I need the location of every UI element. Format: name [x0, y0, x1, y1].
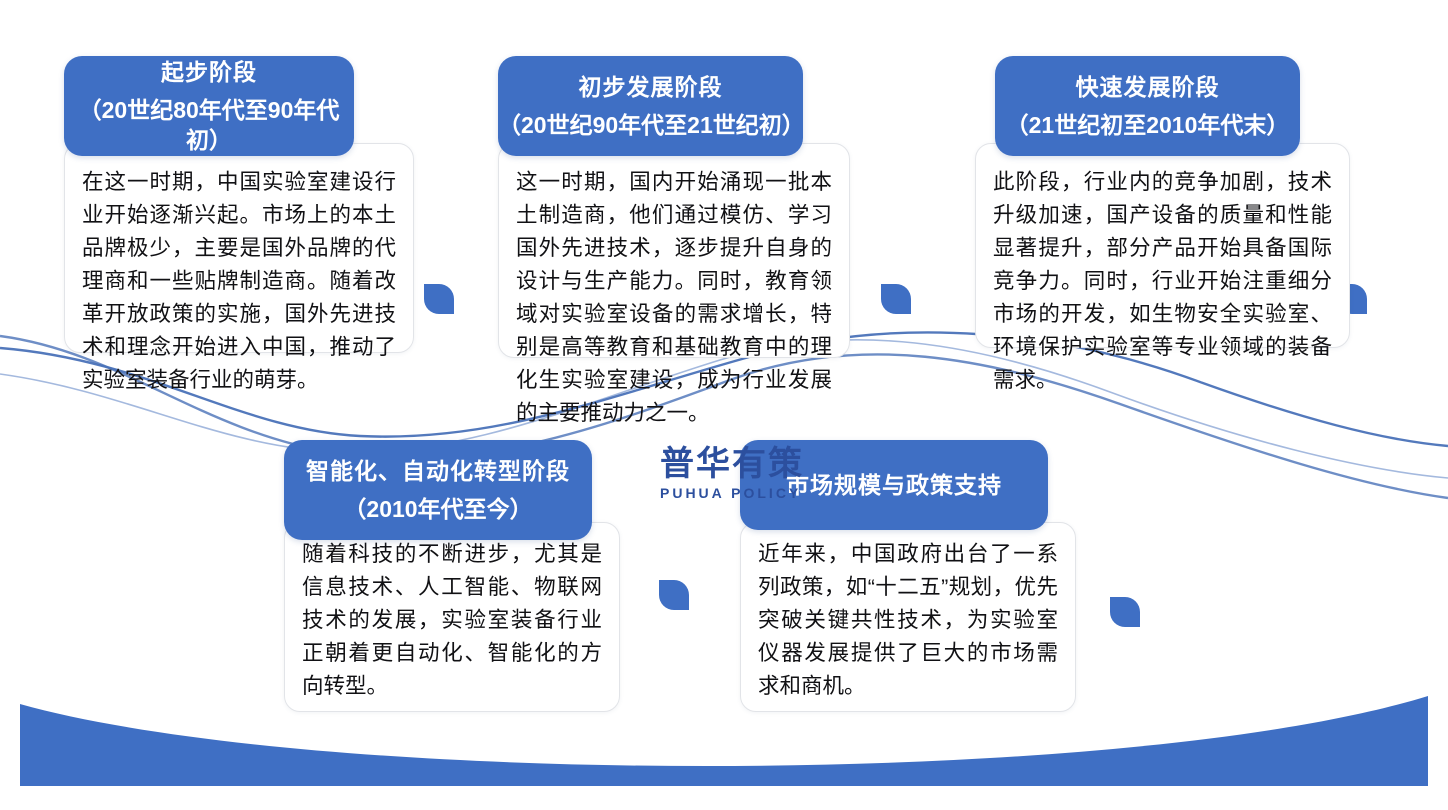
- leaf-decoration-4: [659, 580, 689, 610]
- card-body-text: 此阶段，行业内的竞争加剧，技术升级加速，国产设备的质量和性能显著提升，部分产品开…: [975, 166, 1350, 397]
- stage-card-zhinenghua-zidonghua-zhuanxing-jieduan[interactable]: 随着科技的不断进步，尤其是信息技术、人工智能、物联网技术的发展，实验室装备行业正…: [284, 440, 620, 715]
- card-body-text: 随着科技的不断进步，尤其是信息技术、人工智能、物联网技术的发展，实验室装备行业正…: [284, 538, 620, 703]
- card-body-text: 近年来，中国政府出台了一系列政策，如“十二五”规划，优先突破关键共性技术，为实验…: [740, 538, 1076, 703]
- leaf-decoration-5: [1110, 597, 1140, 627]
- card-subtitle: （21世纪初至2010年代末）: [1006, 110, 1290, 140]
- card-subtitle: （20世纪80年代至90年代初）: [64, 95, 354, 155]
- bottom-decorative-band: [0, 680, 1448, 810]
- card-header[interactable]: 市场规模与政策支持: [740, 440, 1048, 530]
- card-header[interactable]: 起步阶段 （20世纪80年代至90年代初）: [64, 56, 354, 156]
- card-header[interactable]: 初步发展阶段 （20世纪90年代至21世纪初）: [498, 56, 803, 156]
- card-header[interactable]: 智能化、自动化转型阶段 （2010年代至今）: [284, 440, 592, 540]
- stage-card-shichang-guimo-yu-zhengce-zhichi[interactable]: 近年来，中国政府出台了一系列政策，如“十二五”规划，优先突破关键共性技术，为实验…: [740, 440, 1076, 715]
- card-title: 快速发展阶段: [1076, 72, 1220, 102]
- card-title: 初步发展阶段: [579, 72, 723, 102]
- card-body-text: 在这一时期，中国实验室建设行业开始逐渐兴起。市场上的本土品牌极少，主要是国外品牌…: [64, 166, 414, 397]
- leaf-decoration-1: [424, 284, 454, 314]
- card-subtitle: （2010年代至今）: [343, 494, 532, 524]
- stage-card-chubu-fazhan-jieduan[interactable]: 这一时期，国内开始涌现一批本土制造商，他们通过模仿、学习国外先进技术，逐步提升自…: [498, 28, 850, 378]
- infographic-canvas: 在这一时期，中国实验室建设行业开始逐渐兴起。市场上的本土品牌极少，主要是国外品牌…: [0, 0, 1448, 810]
- card-title: 市场规模与政策支持: [786, 470, 1002, 500]
- stage-card-kuaisu-fazhan-jieduan[interactable]: 此阶段，行业内的竞争加剧，技术升级加速，国产设备的质量和性能显著提升，部分产品开…: [975, 28, 1350, 363]
- card-body-text: 这一时期，国内开始涌现一批本土制造商，他们通过模仿、学习国外先进技术，逐步提升自…: [498, 166, 850, 430]
- stage-card-qibu-jieduan[interactable]: 在这一时期，中国实验室建设行业开始逐渐兴起。市场上的本土品牌极少，主要是国外品牌…: [64, 28, 414, 368]
- card-title: 智能化、自动化转型阶段: [306, 456, 570, 486]
- card-subtitle: （20世纪90年代至21世纪初）: [498, 110, 803, 140]
- card-header[interactable]: 快速发展阶段 （21世纪初至2010年代末）: [995, 56, 1300, 156]
- card-title: 起步阶段: [161, 57, 257, 87]
- leaf-decoration-2: [881, 284, 911, 314]
